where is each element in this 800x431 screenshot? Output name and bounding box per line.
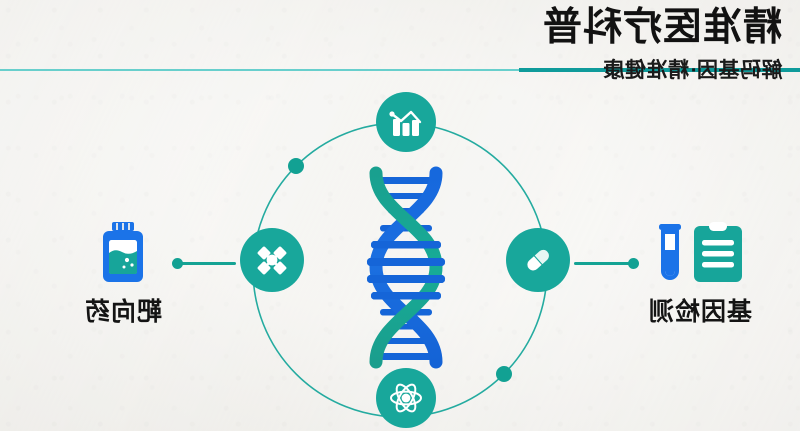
ring-node-right[interactable] [506, 228, 570, 292]
pill-capsule-icon [520, 242, 556, 278]
clipboard-report-icon [691, 220, 745, 284]
ring-node-bottom[interactable] [376, 368, 436, 428]
header-block: 精准医疗科普 解码基因·精准健康 [542, 6, 782, 83]
side-group-left: 靶向药 [58, 218, 188, 328]
side-right-icons [616, 218, 784, 284]
ring-node-top[interactable] [376, 92, 436, 152]
test-tube-icon [655, 222, 685, 284]
page-title-text: 精准医疗科普 [542, 6, 782, 50]
infographic-canvas: 精准医疗科普 解码基因·精准健康 [0, 0, 800, 431]
side-left-label: 靶向药 [58, 292, 188, 328]
ring-marker-dot-upper-left [288, 158, 304, 174]
page-subtitle-text: 解码基因·精准健康 [603, 59, 783, 83]
page-title: 精准医疗科普 [542, 6, 782, 50]
side-left-label-text: 靶向药 [84, 292, 162, 328]
dna-double-helix-icon [340, 165, 472, 370]
molecule-nodes-icon [253, 241, 291, 279]
side-group-right: 基因检测 [616, 218, 784, 328]
ring-marker-dot-lower-right [496, 366, 512, 382]
side-left-icons [58, 218, 188, 284]
medicine-bottle-icon [97, 220, 149, 284]
side-right-label: 基因检测 [616, 292, 784, 328]
page-subtitle: 解码基因·精准健康 [542, 59, 782, 83]
side-right-label-text: 基因检测 [648, 292, 752, 328]
bar-chart-icon [389, 106, 423, 138]
atom-icon [388, 380, 424, 416]
ring-node-left[interactable] [240, 228, 304, 292]
